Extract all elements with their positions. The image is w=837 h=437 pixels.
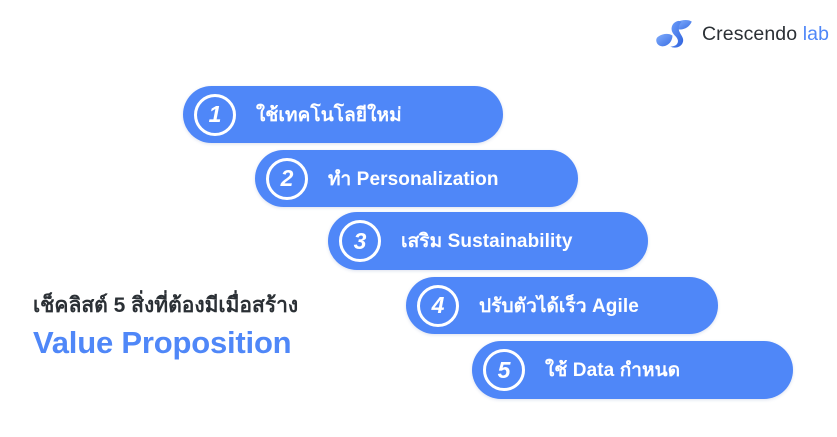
checklist-number-5: 5: [483, 349, 525, 391]
brand-logo: Crescendo lab: [655, 17, 829, 51]
headline-line-2: Value Proposition: [33, 323, 413, 363]
checklist-item-4[interactable]: 4 ปรับตัวได้เร็ว Agile: [406, 277, 718, 334]
checklist-label-1: ใช้เทคโนโลยีใหม่: [256, 100, 424, 130]
checklist-item-2[interactable]: 2 ทำ Personalization: [255, 150, 578, 207]
brand-name-accent: lab: [803, 23, 829, 45]
checklist-number-4: 4: [417, 285, 459, 327]
checklist-label-3: เสริม Sustainability: [401, 226, 595, 256]
checklist-label-4: ปรับตัวได้เร็ว Agile: [479, 291, 661, 321]
checklist-item-1[interactable]: 1 ใช้เทคโนโลยีใหม่: [183, 86, 503, 143]
checklist-label-2: ทำ Personalization: [328, 164, 521, 194]
headline-line-1: เช็คลิสต์ 5 สิ่งที่ต้องมีเมื่อสร้าง: [33, 292, 413, 321]
checklist-number-3: 3: [339, 220, 381, 262]
checklist-item-3[interactable]: 3 เสริม Sustainability: [328, 212, 648, 270]
slide-canvas: Crescendo lab เช็คลิสต์ 5 สิ่งที่ต้องมีเ…: [0, 0, 837, 437]
checklist-number-2: 2: [266, 158, 308, 200]
headline-block: เช็คลิสต์ 5 สิ่งที่ต้องมีเมื่อสร้าง Valu…: [33, 292, 413, 363]
checklist-item-5[interactable]: 5 ใช้ Data กำหนด: [472, 341, 793, 399]
brand-logo-text: Crescendo lab: [702, 23, 829, 46]
brand-name-primary: Crescendo: [702, 23, 797, 45]
checklist-label-5: ใช้ Data กำหนด: [545, 355, 702, 385]
crescendo-bird-mark-icon: [655, 17, 693, 51]
checklist-number-1: 1: [194, 94, 236, 136]
